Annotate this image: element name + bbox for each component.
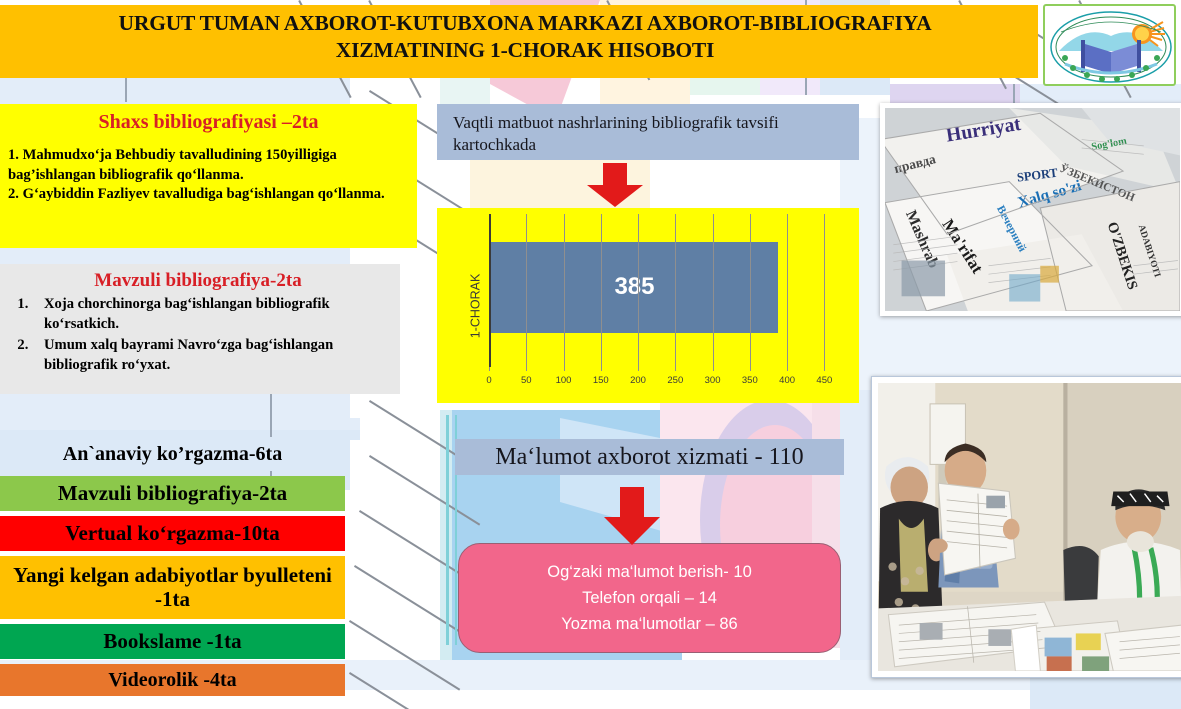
ogzaki-line-2: Telefon orqali – 14 [582, 585, 717, 611]
shaxs-box-title: Shaxs bibliografiyasi –2ta [8, 110, 409, 134]
list-item: Xoja chorchinorga bag‘ishlangan bibliogr… [32, 294, 390, 334]
shaxs-bibliografiyasi-box: Shaxs bibliografiyasi –2ta 1. Mahmudxo‘j… [0, 104, 417, 248]
stat-bar-5: Videorolik -4ta [0, 664, 345, 696]
stat-bar-label: Bookslame -1ta [103, 630, 241, 654]
ogzaki-line-1: Og‘zaki ma‘lumot berish- 10 [547, 559, 752, 585]
chart-y-axis-label: 1-CHORAK [468, 273, 482, 338]
chart-gridline [601, 214, 602, 367]
stat-bar-label: Videorolik -4ta [108, 669, 236, 691]
ogzaki-line-3: Yozma ma‘lumotlar – 86 [561, 611, 737, 637]
newspapers-photo: Hurriyat правда Mashrab Ma'rifat SPORT Ў… [880, 103, 1181, 316]
chart-panel: 1-CHORAK 385 050100150200250300350400450 [437, 208, 859, 403]
stat-bar-2: Vertual ko‘rgazma-10ta [0, 516, 345, 551]
mavzuli-item-list: Xoja chorchinorga bag‘ishlangan bibliogr… [6, 294, 390, 375]
chart-gridline [526, 214, 527, 367]
chart-tick-label: 250 [667, 375, 683, 386]
stat-bar-label: Vertual ko‘rgazma-10ta [65, 522, 279, 546]
chart-tick-label: 350 [742, 375, 758, 386]
chart-tick-mark [601, 367, 602, 371]
arrow-down-to-details-icon [600, 487, 664, 550]
chart-tick-label: 50 [521, 375, 532, 386]
stat-bar-label: Yangi kelgan adabiyotlar byulleteni -1ta [0, 564, 345, 611]
chart-tick-mark [675, 367, 676, 371]
stat-bar-label: Mavzuli bibliografiya-2ta [58, 482, 287, 506]
chart-gridline [824, 214, 825, 367]
vaqtli-line-2: kartochkada [453, 134, 843, 156]
ogzaki-malumot-box: Og‘zaki ma‘lumot berish- 10 Telefon orqa… [458, 543, 841, 653]
list-item: Umum xalq bayrami Navro‘zga bag‘ishlanga… [32, 335, 390, 375]
chart-gridline [750, 214, 751, 367]
chart-gridline [787, 214, 788, 367]
arrow-down-to-chart-icon [583, 163, 647, 212]
mavzuli-bibliografiya-box: Mavzuli bibliografiya-2ta Xoja chorchino… [0, 264, 400, 394]
chart-tick-mark [824, 367, 825, 371]
page-title: URGUT TUMAN AXBOROT-KUTUBXONA MARKAZI AX… [30, 10, 1020, 64]
chart-plot-area: 385 [489, 214, 843, 367]
chart-tick-label: 100 [556, 375, 572, 386]
stat-bar-label: An`anaviy ko’rgazma-6ta [63, 443, 282, 465]
malumot-box-text: Ma‘lumot axborot xizmati - 110 [495, 444, 803, 471]
stat-bar-3: Yangi kelgan adabiyotlar byulleteni -1ta [0, 556, 345, 619]
chart-tick-mark [750, 367, 751, 371]
chart-tick-label: 200 [630, 375, 646, 386]
newspapers-photo-image: Hurriyat правда Mashrab Ma'rifat SPORT Ў… [885, 108, 1180, 311]
chart-tick-label: 300 [705, 375, 721, 386]
chart-tick-label: 0 [486, 375, 491, 386]
malumot-axborot-xizmati-box: Ma‘lumot axborot xizmati - 110 [455, 439, 844, 475]
library-emblem-icon [1045, 6, 1176, 86]
chart-gridline [713, 214, 714, 367]
chart-gridline [564, 214, 565, 367]
chart-bar-1-chorak: 385 [491, 242, 778, 334]
mavzuli-box-title: Mavzuli bibliografiya-2ta [6, 269, 390, 292]
chart-tick-mark [564, 367, 565, 371]
vaqtli-matbuot-box: Vaqtli matbuot nashrlarining bibliografi… [437, 104, 859, 160]
chart-bar-value-label: 385 [614, 273, 654, 301]
chart-tick-label: 150 [593, 375, 609, 386]
chart-gridline [675, 214, 676, 367]
stat-bar-4: Bookslame -1ta [0, 624, 345, 659]
page-title-line1: URGUT TUMAN AXBOROT-KUTUBXONA MARKAZI AX… [30, 10, 1020, 37]
vaqtli-line-1: Vaqtli matbuot nashrlarining bibliografi… [453, 112, 843, 134]
chart-tick-mark [526, 367, 527, 371]
page-title-line2: XIZMATINING 1-CHORAK HISOBOTI [30, 37, 1020, 64]
library-emblem-logo [1043, 4, 1176, 86]
chart-tick-label: 400 [779, 375, 795, 386]
stat-bar-0: An`anaviy ko’rgazma-6ta [0, 437, 345, 471]
chart-tick-mark [638, 367, 639, 371]
chart-tick-label: 450 [816, 375, 832, 386]
poster-canvas: URGUT TUMAN AXBOROT-KUTUBXONA MARKAZI AX… [0, 0, 1181, 709]
chart-tick-mark [489, 367, 490, 371]
stat-bar-list: An`anaviy ko’rgazma-6taMavzuli bibliogra… [0, 437, 345, 701]
library-reading-room-image [878, 383, 1181, 671]
chart-gridline [638, 214, 639, 367]
library-reading-room-photo [871, 376, 1181, 678]
chart-tick-mark [713, 367, 714, 371]
shaxs-item-2: 2. G‘aybiddin Fazliyev tavalludiga bag‘i… [8, 185, 409, 205]
shaxs-item-1: 1. Mahmudxo‘ja Behbudiy tavalludining 15… [8, 146, 409, 185]
stat-bar-1: Mavzuli bibliografiya-2ta [0, 476, 345, 511]
chart-tick-mark [787, 367, 788, 371]
bar-chart: 1-CHORAK 385 [437, 208, 859, 403]
